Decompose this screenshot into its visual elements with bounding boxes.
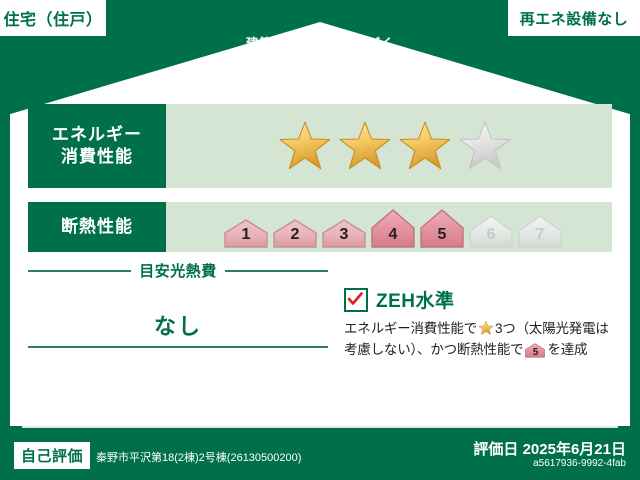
evaluation-date: 評価日 2025年6月21日 <box>473 438 626 459</box>
building-name-text: 秦野市平沢第18(2棟)2号棟(26130500200) <box>96 449 301 465</box>
star-icon <box>398 119 452 173</box>
rule-left <box>28 270 131 272</box>
footer-divider <box>22 426 618 428</box>
house-icon-level-5: 5 <box>420 206 464 248</box>
rule-right <box>225 270 328 272</box>
utility-cost-title: 目安光熱費 <box>139 260 217 281</box>
utility-cost-header: 目安光熱費 <box>28 260 328 281</box>
house-inline-number: 5 <box>525 345 545 361</box>
zeh-title: ZEH水準 <box>376 286 455 313</box>
house-icon-level-3: 3 <box>322 206 366 248</box>
house-icon-level-2: 2 <box>273 206 317 248</box>
insulation-performance-row: 断熱性能 <box>28 202 612 252</box>
zeh-desc-part2: 3つ（太陽光発電 <box>495 321 595 336</box>
energy-performance-row: エネルギー 消費性能 <box>28 104 612 188</box>
utility-cost-block: 目安光熱費 なし <box>28 260 328 341</box>
star-icon <box>338 119 392 173</box>
star-rating <box>278 119 512 173</box>
zeh-desc-part4: を達成 <box>547 342 587 357</box>
energy-label-line1: エネルギー <box>52 124 142 146</box>
utility-cost-value: なし <box>28 309 328 341</box>
zeh-header: ZEH水準 <box>344 286 620 313</box>
energy-rating-value <box>166 104 612 188</box>
energy-performance-label: エネルギー 消費性能 <box>28 104 166 188</box>
insulation-performance-label: 断熱性能 <box>28 202 166 252</box>
energy-performance-label: 住宅（住戸） 再エネ設備なし 建築物省エネ法に基づく 省エネ性能ラベル エネルギ… <box>0 0 640 480</box>
utility-cost-bottom-rule <box>28 346 328 348</box>
star-icon-empty <box>458 119 512 173</box>
label-footer: 自己評価 秦野市平沢第18(2棟)2号棟(26130500200) 評価日 20… <box>0 426 640 480</box>
building-type-tag: 住宅（住戸） <box>0 0 106 36</box>
star-icon <box>478 320 494 336</box>
house-icon-level-4: 4 <box>371 206 415 248</box>
check-icon <box>344 288 368 312</box>
house-icon-level-6: 6 <box>469 206 513 248</box>
renewable-equipment-tag: 再エネ設備なし <box>508 0 640 36</box>
house-icon-inline: 5 <box>525 342 545 358</box>
house-rating-scale: 1 2 3 <box>224 206 562 248</box>
panel-content: エネルギー 消費性能 <box>10 104 630 426</box>
house-icon-level-7: 7 <box>518 206 562 248</box>
zeh-description: エネルギー消費性能で3つ（太陽光発電は考慮しない）、かつ断熱性能で5を達成 <box>344 319 620 361</box>
zeh-desc-part1: エネルギー消費性能で <box>344 321 477 336</box>
energy-label-line2: 消費性能 <box>61 146 133 168</box>
house-icon-level-1: 1 <box>224 206 268 248</box>
insulation-rating-value: 1 2 3 <box>166 202 612 252</box>
self-evaluation-badge: 自己評価 <box>14 442 90 469</box>
star-icon <box>278 119 332 173</box>
evaluation-id: a5617936-9992-4fab <box>533 458 626 469</box>
zeh-standard-block: ZEH水準 エネルギー消費性能で3つ（太陽光発電は考慮しない）、かつ断熱性能で5… <box>344 286 620 361</box>
